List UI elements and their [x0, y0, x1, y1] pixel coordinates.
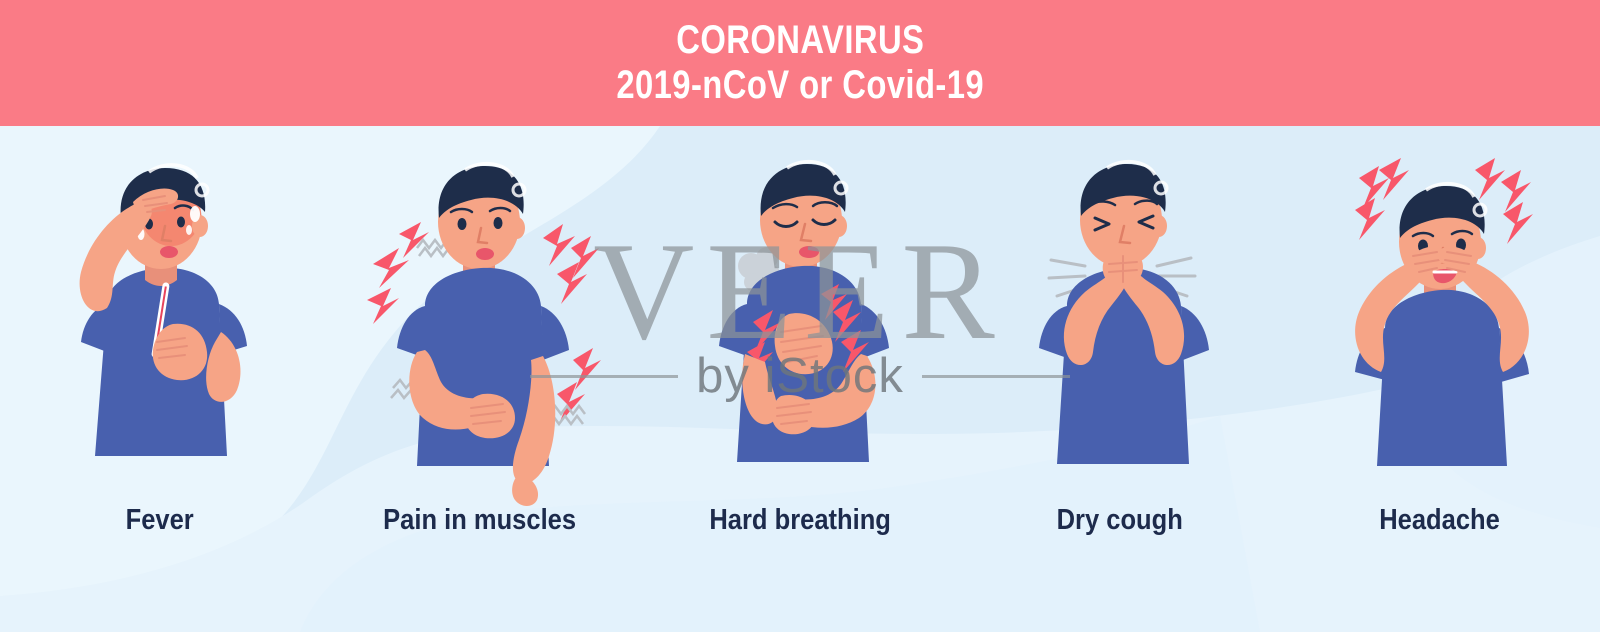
- symptom-card-pain-in-muscles[interactable]: Pain in muscles: [320, 126, 640, 632]
- header-title-line2: 2019-nCoV or Covid-19: [616, 62, 984, 108]
- headache-illustration: [1315, 156, 1565, 496]
- dry-cough-illustration: [1005, 156, 1235, 496]
- symptom-label-fever: Fever: [0, 504, 320, 537]
- fever-illustration: [45, 156, 275, 496]
- infographic-canvas: CORONAVIRUS 2019-nCoV or Covid-19: [0, 0, 1600, 632]
- hard-breathing-illustration: [685, 156, 915, 496]
- symptom-card-fever[interactable]: Fever: [0, 126, 320, 632]
- pain-in-muscles-illustration: [345, 156, 615, 506]
- symptom-card-dry-cough[interactable]: Dry cough: [960, 126, 1280, 632]
- symptom-label-pain-in-muscles: Pain in muscles: [320, 504, 640, 537]
- symptom-card-headache[interactable]: Headache: [1280, 126, 1600, 632]
- header-title-line1: CORONAVIRUS: [676, 18, 924, 62]
- symptom-card-hard-breathing[interactable]: Hard breathing: [640, 126, 960, 632]
- symptom-figures-row: Fever: [0, 126, 1600, 632]
- header-banner: CORONAVIRUS 2019-nCoV or Covid-19: [0, 0, 1600, 126]
- symptom-label-dry-cough: Dry cough: [960, 504, 1280, 537]
- symptom-label-hard-breathing: Hard breathing: [640, 504, 960, 537]
- symptom-label-headache: Headache: [1280, 504, 1600, 537]
